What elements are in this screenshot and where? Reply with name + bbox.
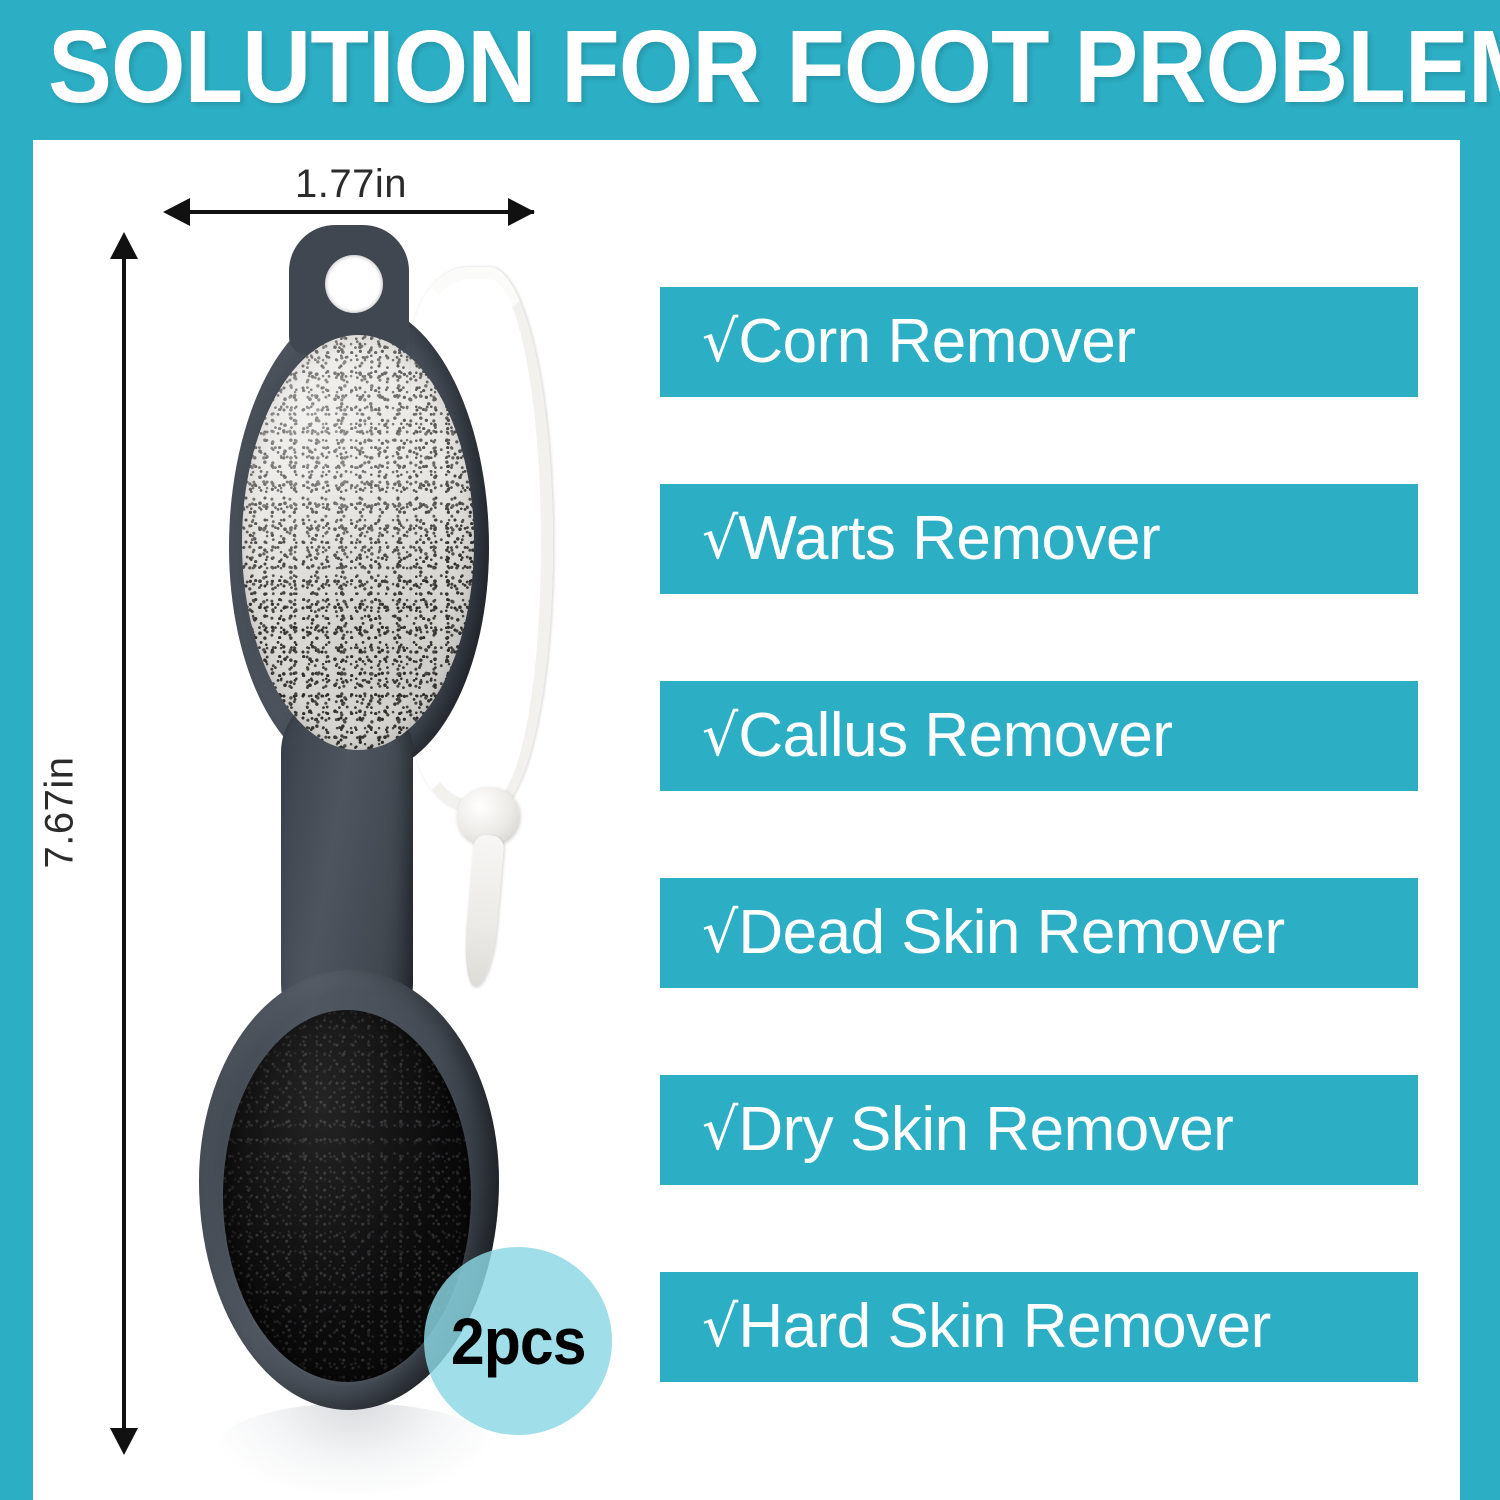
feature-label: Corn Remover xyxy=(738,311,1135,373)
product-reflection xyxy=(215,1403,495,1493)
feature-bar-dead-skin-remover: √ Dead Skin Remover xyxy=(660,878,1418,988)
feature-bar-corn-remover: √ Corn Remover xyxy=(660,287,1418,397)
check-icon: √ xyxy=(660,1299,738,1356)
check-icon: √ xyxy=(660,511,738,568)
feature-label: Dead Skin Remover xyxy=(738,902,1284,964)
check-icon: √ xyxy=(660,314,738,371)
hanging-rope xyxy=(411,267,553,811)
check-icon: √ xyxy=(660,708,738,765)
feature-bar-hard-skin-remover: √ Hard Skin Remover xyxy=(660,1272,1418,1382)
feature-bar-dry-skin-remover: √ Dry Skin Remover xyxy=(660,1075,1418,1185)
feature-label: Hard Skin Remover xyxy=(738,1296,1270,1358)
width-dimension-line xyxy=(168,210,534,214)
height-dimension-label: 7.67in xyxy=(38,713,83,913)
feature-label: Dry Skin Remover xyxy=(738,1099,1233,1161)
arrow-right-icon xyxy=(508,198,535,226)
feature-bar-callus-remover: √ Callus Remover xyxy=(660,681,1418,791)
quantity-badge: 2pcs xyxy=(424,1247,612,1435)
product-hang-hole xyxy=(325,255,383,313)
height-dimension-line xyxy=(122,254,126,1446)
feature-label: Warts Remover xyxy=(738,508,1160,570)
check-icon: √ xyxy=(660,1102,738,1159)
header-banner: SOLUTION FOR FOOT PROBLEM xyxy=(0,0,1500,140)
quantity-badge-label: 2pcs xyxy=(451,1308,586,1374)
feature-bar-warts-remover: √ Warts Remover xyxy=(660,484,1418,594)
page-title: SOLUTION FOR FOOT PROBLEM xyxy=(48,6,1369,126)
check-icon: √ xyxy=(660,905,738,962)
arrow-up-icon xyxy=(110,232,138,259)
feature-list: √ Corn Remover √ Warts Remover √ Callus … xyxy=(660,287,1418,1382)
width-dimension-label: 1.77in xyxy=(168,162,534,207)
feature-label: Callus Remover xyxy=(738,705,1172,767)
arrow-left-icon xyxy=(163,198,190,226)
arrow-down-icon xyxy=(110,1428,138,1455)
infographic-page: SOLUTION FOR FOOT PROBLEM 1.77in 7.67in … xyxy=(0,0,1500,1500)
rope-tail xyxy=(461,834,504,988)
